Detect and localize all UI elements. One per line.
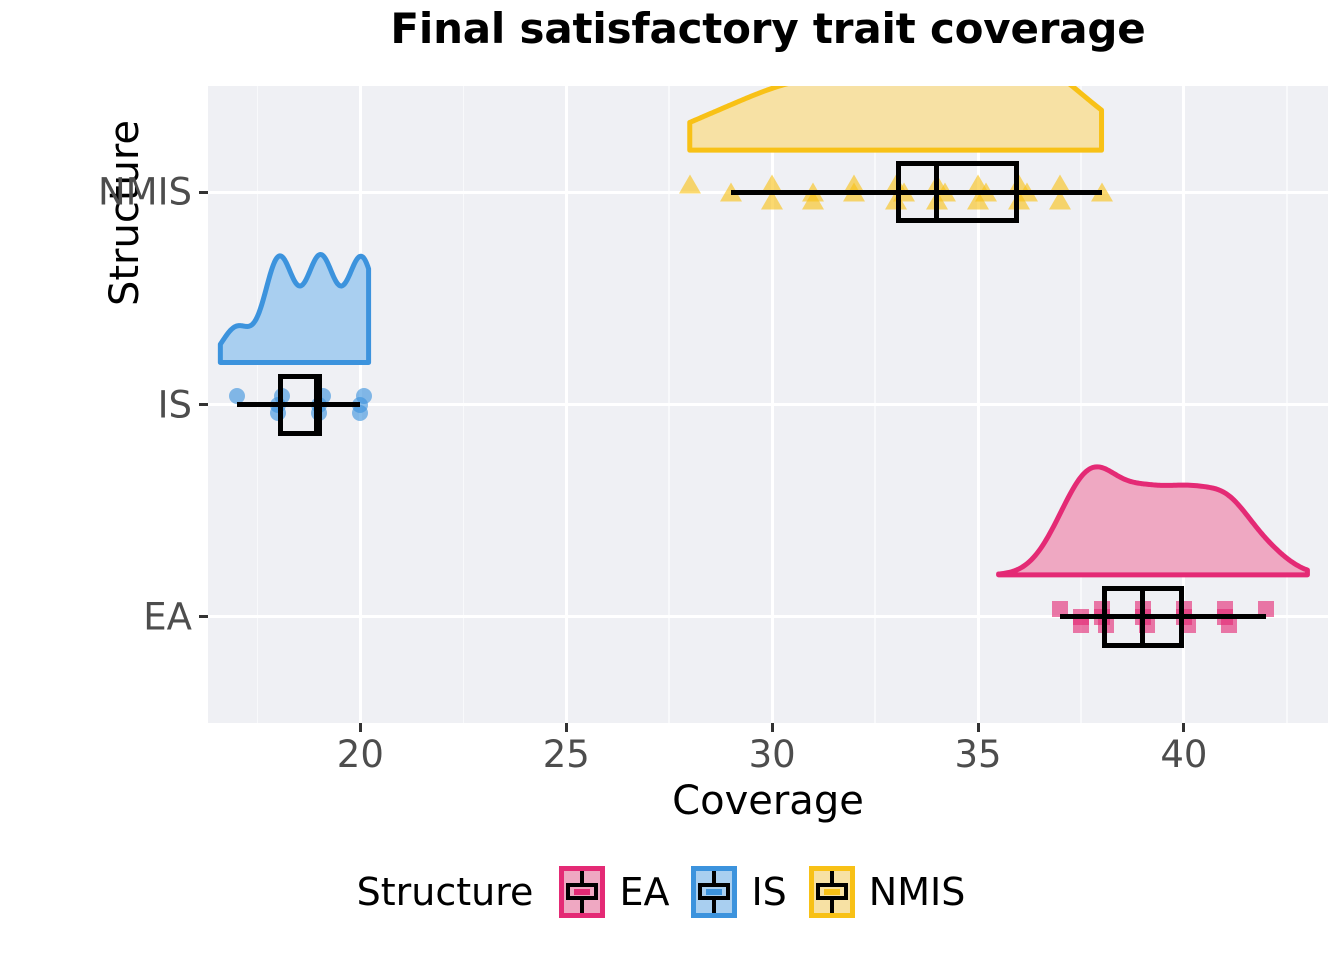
median-line — [317, 374, 322, 436]
median-line — [1140, 586, 1145, 648]
x-tick-label: 20 — [337, 733, 384, 776]
legend-item-is[interactable]: IS — [691, 866, 786, 918]
y-tick-label-ea: EA — [143, 595, 192, 638]
gridline-y — [208, 403, 1328, 406]
chart-title: Final satisfactory trait coverage — [208, 6, 1328, 52]
x-tick-mark — [977, 723, 980, 732]
x-tick-label: 30 — [749, 733, 796, 776]
legend-label: EA — [619, 870, 669, 914]
legend-key-median — [574, 889, 590, 895]
plot-panel — [208, 86, 1328, 723]
data-point — [352, 405, 368, 421]
legend: Structure EAISNMIS — [0, 866, 1344, 918]
chart-root: Final satisfactory trait coverage Struct… — [0, 0, 1344, 960]
y-tick-label-nmis: NMIS — [98, 171, 192, 214]
legend-title: Structure — [357, 870, 534, 914]
legend-item-ea[interactable]: EA — [559, 866, 669, 918]
legend-items: EAISNMIS — [559, 866, 987, 918]
data-point — [1221, 617, 1237, 633]
legend-key-icon — [809, 866, 855, 918]
legend-item-nmis[interactable]: NMIS — [809, 866, 966, 918]
y-tick-mark — [199, 403, 208, 406]
legend-key-median — [706, 889, 722, 895]
legend-label: NMIS — [869, 870, 966, 914]
x-axis-title: Coverage — [208, 778, 1328, 824]
x-tick-label: 25 — [543, 733, 590, 776]
x-tick-mark — [771, 723, 774, 732]
box-nmis — [896, 161, 1020, 223]
x-tick-label: 40 — [1160, 733, 1207, 776]
x-tick-mark — [359, 723, 362, 732]
median-line — [934, 161, 939, 223]
x-tick-label: 35 — [954, 733, 1001, 776]
legend-key-icon — [559, 866, 605, 918]
data-point — [679, 174, 701, 193]
x-tick-mark — [565, 723, 568, 732]
y-tick-mark — [199, 615, 208, 618]
legend-key-icon — [691, 866, 737, 918]
box-is — [278, 374, 319, 436]
y-tick-mark — [199, 191, 208, 194]
y-tick-label-is: IS — [158, 383, 192, 426]
data-point — [1073, 617, 1089, 633]
legend-label: IS — [751, 870, 786, 914]
legend-key-median — [824, 889, 840, 895]
x-tick-mark — [1182, 723, 1185, 732]
